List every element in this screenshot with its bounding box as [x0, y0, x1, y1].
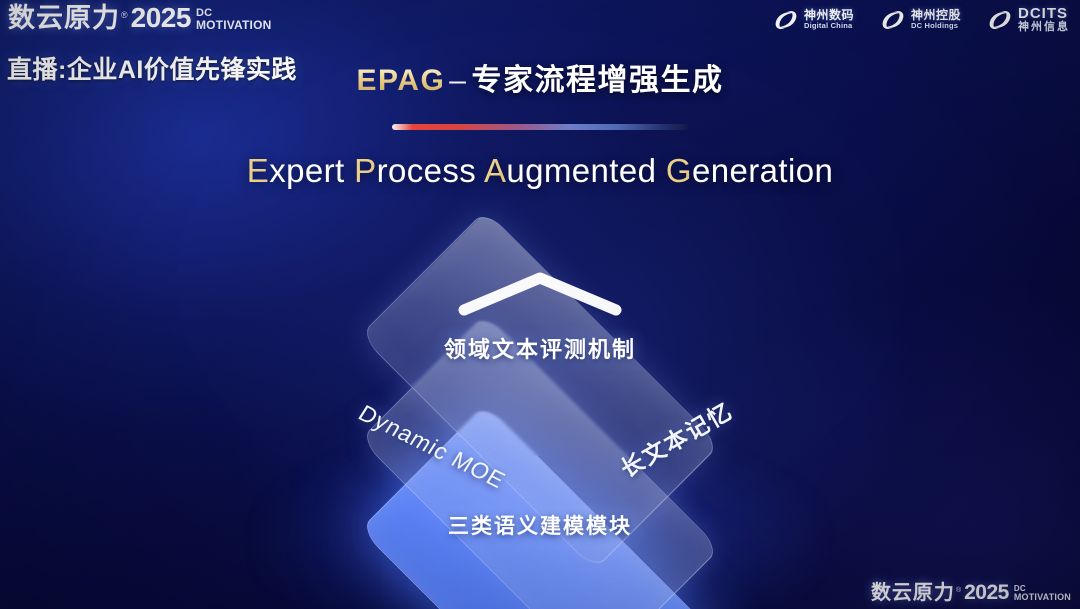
partner-name-cn: 神州信息: [1018, 22, 1070, 34]
subtitle-initial: G: [666, 152, 692, 189]
subtitle-word-augmented: Augmented: [484, 152, 656, 189]
subtitle-word-expert: Expert: [247, 152, 345, 189]
partner-logo-group: 神州数码 Digital China 神州控股 DC Holdings: [773, 6, 1070, 33]
watermark-registered-icon: ®: [956, 587, 961, 594]
swirl-logo-icon: [987, 9, 1013, 31]
partner-logo-digital-china: 神州数码 Digital China: [773, 9, 854, 31]
subtitle: Expert Process Augmented Generation: [0, 152, 1080, 190]
subtitle-rest: eneration: [692, 152, 833, 189]
subtitle-initial: A: [484, 152, 506, 189]
swirl-logo-icon: [880, 9, 906, 31]
brand-name-cn: 数云原力: [8, 5, 120, 32]
partner-text: 神州数码 Digital China: [804, 9, 854, 29]
partner-name-en: DC Holdings: [911, 22, 961, 30]
subtitle-initial: E: [247, 152, 269, 189]
slide-canvas: 数云原力 ® 2025 DC MOTIVATION 直播:企业AI价值先锋实践 …: [0, 0, 1080, 609]
swirl-logo-icon: [773, 9, 799, 31]
watermark-tagline: DC MOTIVATION: [1014, 585, 1071, 602]
title-chinese: 专家流程增强生成: [471, 64, 723, 97]
subtitle-initial: P: [354, 152, 376, 189]
page-title: EPAG–专家流程增强生成: [0, 55, 1080, 99]
subtitle-rest: ugmented: [506, 152, 656, 189]
partner-logo-dcits: DCITS 神州信息: [987, 6, 1070, 33]
brand-logo: 数云原力 ® 2025 DC MOTIVATION: [8, 4, 271, 32]
subtitle-rest: xpert: [269, 152, 344, 189]
watermark-year: 2025: [964, 582, 1009, 603]
partner-text: DCITS 神州信息: [1018, 6, 1070, 33]
partner-name-en: DCITS: [1018, 6, 1070, 22]
subtitle-rest: rocess: [377, 152, 477, 189]
partner-logo-dc-holdings: 神州控股 DC Holdings: [880, 9, 961, 31]
gradient-divider: [392, 124, 688, 130]
subtitle-word-process: Process: [354, 152, 476, 189]
watermark-tagline-line2: MOTIVATION: [1014, 593, 1071, 602]
partner-name-en: Digital China: [804, 22, 854, 30]
brand-year: 2025: [131, 4, 191, 32]
title-separator: –: [449, 64, 467, 97]
title-acronym: EPAG: [357, 64, 446, 97]
brand-tagline: DC MOTIVATION: [196, 8, 272, 31]
brand-tagline-line2: MOTIVATION: [196, 19, 272, 31]
subtitle-word-generation: Generation: [666, 152, 833, 189]
isometric-layer-diagram: 领域文本评测机制 Dynamic MOE 长文本记忆 三类语义建模模块: [0, 222, 1080, 582]
footer-watermark-logo: 数云原力 ® 2025 DC MOTIVATION: [871, 582, 1071, 603]
registered-trademark-icon: ®: [121, 10, 128, 20]
watermark-name-cn: 数云原力: [871, 583, 955, 603]
partner-text: 神州控股 DC Holdings: [911, 9, 961, 29]
